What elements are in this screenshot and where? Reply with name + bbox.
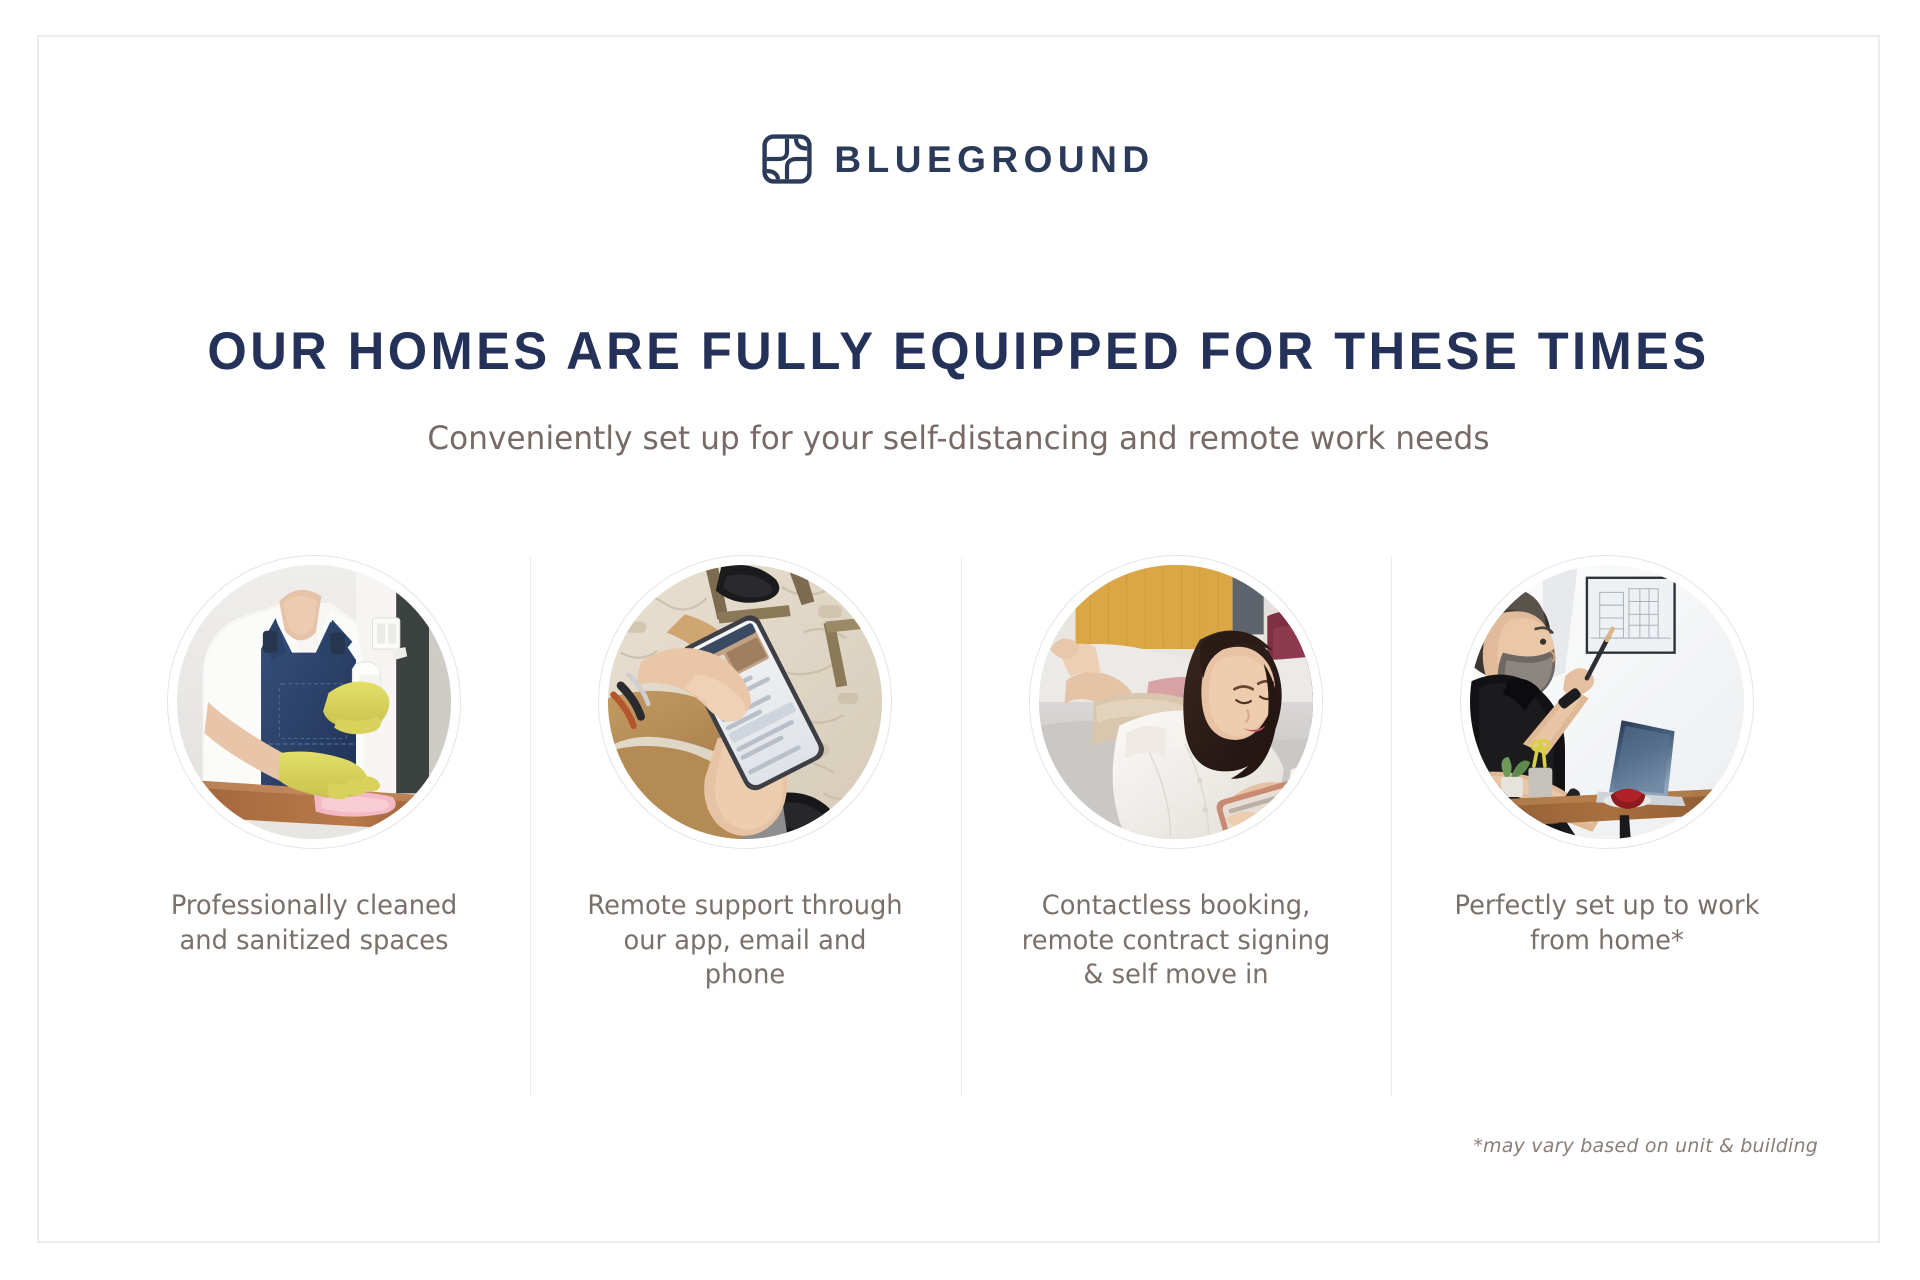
page-subtitle: Conveniently set up for your self-distan… <box>125 418 1792 458</box>
feature-caption: Professionally cleaned and sanitized spa… <box>154 889 474 958</box>
page-title: OUR HOMES ARE FULLY EQUIPPED FOR THESE T… <box>138 323 1780 380</box>
feature-photo-cleaning <box>177 565 451 839</box>
feature-caption: Remote support through our app, email an… <box>585 889 905 993</box>
feature-photo-wfh <box>1470 565 1744 839</box>
feature-column-wfh: Perfectly set up to work from home* <box>1391 522 1822 993</box>
brand-lockup: BLUEGROUND <box>39 134 1878 184</box>
feature-column-cleaning: Professionally cleaned and sanitized spa… <box>99 522 530 993</box>
feature-image-ring-booking <box>1029 555 1323 849</box>
feature-columns: Professionally cleaned and sanitized spa… <box>99 522 1822 993</box>
poster-frame: BLUEGROUND OUR HOMES ARE FULLY EQUIPPED … <box>37 35 1880 1243</box>
feature-caption: Perfectly set up to work from home* <box>1447 889 1767 958</box>
feature-image-ring-cleaning <box>167 555 461 849</box>
feature-image-ring-wfh <box>1460 555 1754 849</box>
feature-caption: Contactless booking, remote contract sig… <box>1016 889 1336 993</box>
feature-photo-booking <box>1039 565 1313 839</box>
footnote-disclaimer: *may vary based on unit & building <box>1473 1135 1818 1157</box>
brand-wordmark: BLUEGROUND <box>834 141 1154 178</box>
feature-photo-support <box>608 565 882 839</box>
feature-image-ring-support <box>598 555 892 849</box>
feature-column-support: Remote support through our app, email an… <box>530 522 961 993</box>
feature-column-booking: Contactless booking, remote contract sig… <box>961 522 1392 993</box>
blueground-logo-icon <box>762 134 812 184</box>
